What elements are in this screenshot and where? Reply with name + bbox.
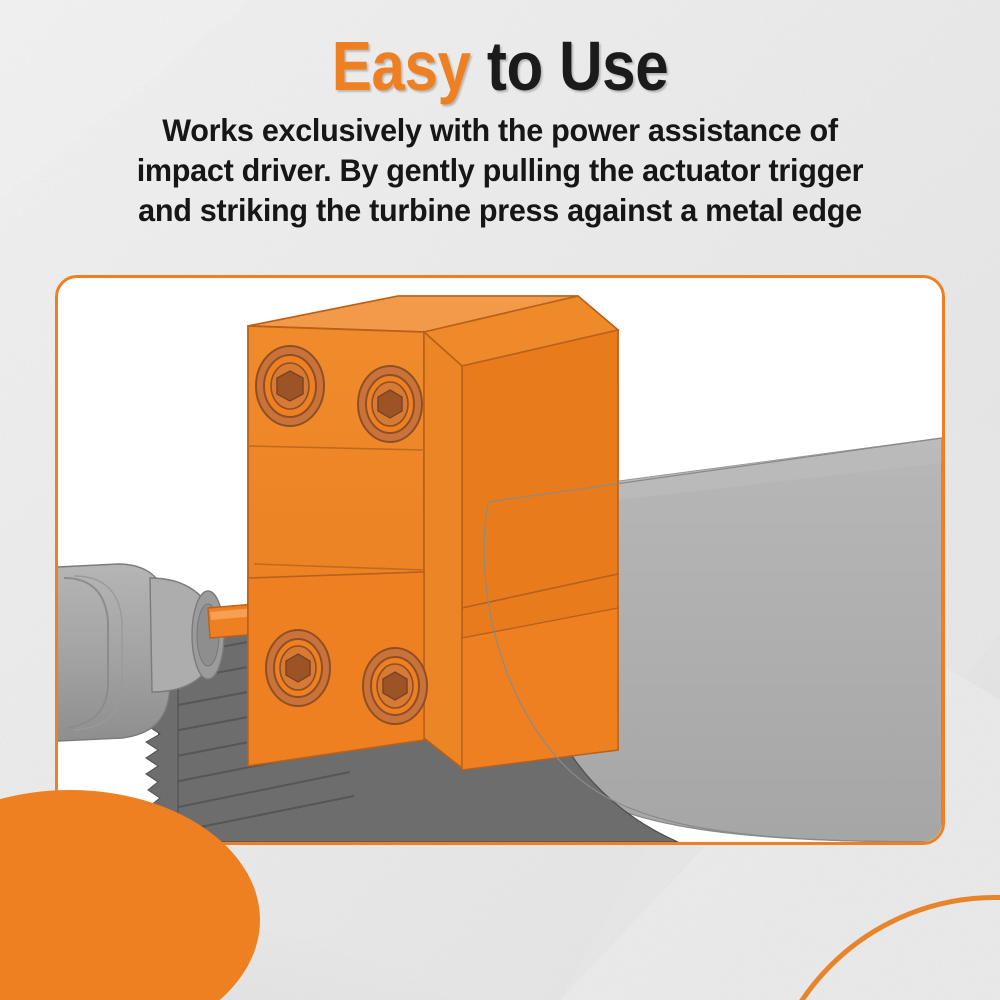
tool-illustration: [58, 278, 942, 842]
header-block: Easy to Use Works exclusively with the p…: [0, 0, 1000, 230]
subtitle-line-2: impact driver. By gently pulling the act…: [30, 150, 971, 190]
subtitle-line-1: Works exclusively with the power assista…: [30, 110, 971, 150]
page-title: Easy to Use: [70, 30, 930, 102]
hex-socket-screw: [256, 346, 324, 426]
turbine-press-body: [248, 296, 618, 770]
press-side-plate: [424, 332, 462, 768]
page-root: Easy to Use Works exclusively with the p…: [0, 0, 1000, 1000]
hex-socket-screw: [358, 366, 422, 442]
subtitle-line-3: and striking the turbine press against a…: [30, 190, 971, 230]
illustration-card: [55, 275, 945, 845]
page-title-accent: Easy: [332, 27, 471, 105]
page-title-rest: to Use: [471, 27, 669, 105]
press-right-block: [462, 330, 618, 608]
hex-socket-screw: [266, 630, 330, 706]
page-subtitle: Works exclusively with the power assista…: [30, 110, 971, 230]
hex-socket-screw: [363, 648, 427, 724]
